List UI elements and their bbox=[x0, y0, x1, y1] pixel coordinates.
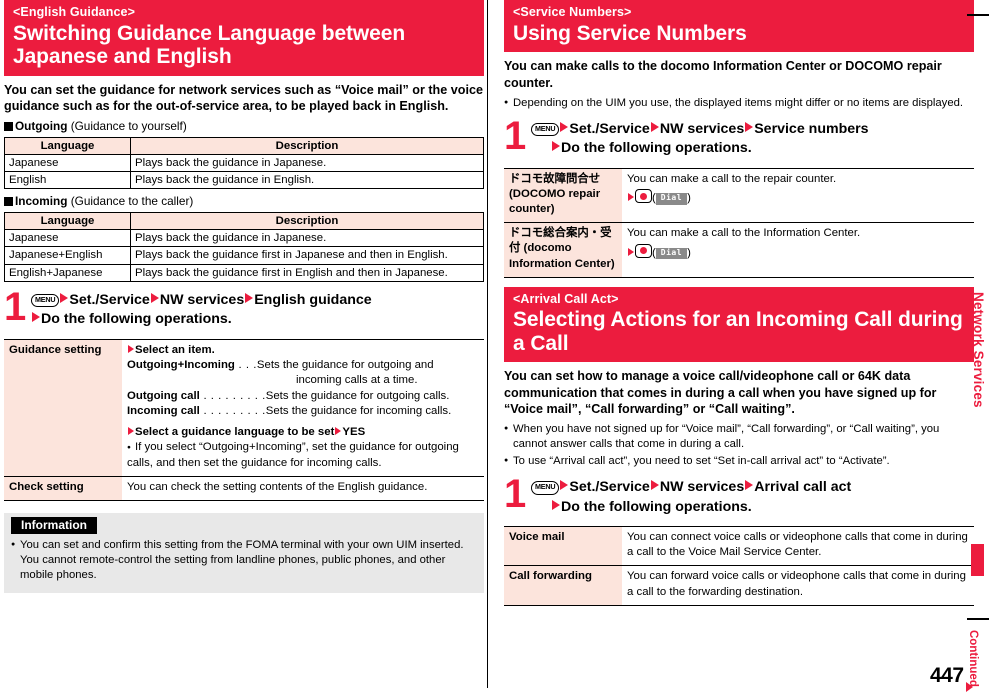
table-row: English Plays back the guidance in Engli… bbox=[5, 172, 484, 189]
right-column: <Service Numbers> Using Service Numbers … bbox=[504, 0, 974, 606]
cell-language: Japanese+English bbox=[5, 247, 131, 264]
arrow-icon bbox=[151, 293, 159, 303]
cell-description: Plays back the guidance in Japanese. bbox=[131, 154, 484, 171]
section-banner-service-numbers: <Service Numbers> Using Service Numbers bbox=[504, 0, 974, 52]
step-path-3: English guidance bbox=[254, 292, 371, 308]
column-divider bbox=[487, 0, 488, 688]
service-desc: You can make a call to the repair counte… bbox=[627, 172, 969, 187]
arrow-icon bbox=[128, 345, 134, 353]
table-row: ドコモ故障問合せ (DOCOMO repair counter) You can… bbox=[504, 168, 974, 222]
table-header-row: Language Description bbox=[5, 212, 484, 229]
subheading-outgoing-rest: (Guidance to yourself) bbox=[67, 119, 186, 133]
arrival-call-act-table: Voice mail You can connect voice calls o… bbox=[504, 526, 974, 606]
arrow-icon bbox=[745, 480, 753, 490]
subheading-incoming-rest: (Guidance to the caller) bbox=[67, 194, 193, 208]
option-term: Outgoing call bbox=[127, 390, 200, 402]
option-desc-cont: incoming calls at a time. bbox=[127, 373, 479, 388]
step-number: 1 bbox=[504, 474, 526, 514]
step-path-1: Set./Service bbox=[569, 121, 649, 137]
continued-label-wrap: Continued bbox=[967, 630, 979, 687]
arrow-icon bbox=[128, 427, 134, 435]
cell-service-key: ドコモ故障問合せ (DOCOMO repair counter) bbox=[504, 168, 622, 222]
cell-language: Japanese bbox=[5, 230, 131, 247]
table-header-row: Language Description bbox=[5, 137, 484, 154]
section-kicker: <English Guidance> bbox=[13, 5, 475, 21]
step-final-wrap: Do the following operations. bbox=[531, 499, 752, 515]
step-path-1: Set./Service bbox=[569, 479, 649, 495]
step-path-3: Service numbers bbox=[754, 121, 868, 137]
cell-guidance-setting-key: Guidance setting bbox=[4, 339, 122, 476]
section-title: Selecting Actions for an Incoming Call d… bbox=[513, 308, 965, 355]
section-bullet: When you have not signed up for “Voice m… bbox=[504, 422, 974, 452]
cell-description: Plays back the guidance in Japanese. bbox=[131, 230, 484, 247]
section-lead-text: You can set how to manage a voice call/v… bbox=[504, 368, 974, 417]
arrow-icon bbox=[745, 122, 753, 132]
arrow-icon bbox=[60, 293, 68, 303]
step-final: Do the following operations. bbox=[561, 140, 752, 156]
option-term: Incoming call bbox=[127, 405, 200, 417]
col-header-language: Language bbox=[5, 212, 131, 229]
option-desc: Sets the guidance for incoming calls. bbox=[266, 405, 452, 417]
step-body: MENUSet./ServiceNW servicesService numbe… bbox=[531, 120, 974, 159]
dial-action-line: (Dial) bbox=[627, 189, 969, 206]
step-body: MENUSet./ServiceNW servicesArrival call … bbox=[531, 478, 974, 517]
arrow-icon bbox=[245, 293, 253, 303]
arrow-icon bbox=[560, 122, 568, 132]
cell-language: English bbox=[5, 172, 131, 189]
outgoing-language-table: Language Description Japanese Plays back… bbox=[4, 137, 484, 190]
chapter-tab-marker bbox=[971, 544, 984, 576]
information-item: You can set and confirm this setting fro… bbox=[11, 538, 477, 583]
step-number: 1 bbox=[4, 287, 26, 327]
col-header-description: Description bbox=[131, 137, 484, 154]
arrow-icon bbox=[552, 141, 560, 151]
step-service-numbers: 1 MENUSet./ServiceNW servicesService num… bbox=[504, 120, 974, 162]
step-path-3: Arrival call act bbox=[754, 479, 851, 495]
col-header-language: Language bbox=[5, 137, 131, 154]
cell-description: Plays back the guidance first in Japanes… bbox=[131, 247, 484, 264]
col-header-description: Description bbox=[131, 212, 484, 229]
select-item-label: Select an item. bbox=[135, 344, 215, 356]
information-title: Information bbox=[11, 517, 97, 534]
subheading-incoming-bold: Incoming bbox=[15, 194, 67, 208]
black-square-icon bbox=[4, 122, 13, 131]
dial-key-icon bbox=[635, 244, 652, 258]
black-square-icon bbox=[4, 197, 13, 206]
dial-action-line: (Dial) bbox=[627, 244, 969, 261]
table-row: Voice mail You can connect voice calls o… bbox=[504, 527, 974, 566]
dial-key-icon bbox=[635, 189, 652, 203]
section-banner-english-guidance: <English Guidance> Switching Guidance La… bbox=[4, 0, 484, 76]
cell-action-value: You can connect voice calls or videophon… bbox=[622, 527, 974, 566]
arrow-icon bbox=[651, 122, 659, 132]
table-row: ドコモ総合案内・受付 (docomo Information Center) Y… bbox=[504, 223, 974, 277]
cell-guidance-setting-value: Select an item. Outgoing+Incoming . . .S… bbox=[122, 339, 484, 476]
step-number: 1 bbox=[504, 116, 526, 156]
continued-label: Continued bbox=[967, 630, 979, 687]
select-language-line: Select a guidance language to be setYES bbox=[127, 425, 479, 440]
section-title: Using Service Numbers bbox=[513, 22, 965, 46]
arrow-icon bbox=[552, 500, 560, 510]
menu-key-icon: MENU bbox=[531, 481, 559, 494]
guidance-setting-note: If you select “Outgoing+Incoming”, set t… bbox=[127, 441, 459, 468]
option-dots: . . . bbox=[235, 359, 257, 371]
table-row: Guidance setting Select an item. Outgoin… bbox=[4, 339, 484, 476]
option-row: Incoming call . . . . . . . . .Sets the … bbox=[127, 404, 479, 419]
cell-action-key: Voice mail bbox=[504, 527, 622, 566]
section-bullet: Depending on the UIM you use, the displa… bbox=[504, 96, 974, 111]
step-path-2: NW services bbox=[160, 292, 244, 308]
arrow-icon bbox=[628, 193, 634, 201]
arrow-icon bbox=[335, 427, 341, 435]
menu-key-icon: MENU bbox=[531, 123, 559, 136]
continued-arrow-icon bbox=[966, 682, 973, 692]
section-kicker: <Service Numbers> bbox=[513, 5, 965, 21]
arrow-icon bbox=[628, 248, 634, 256]
cell-description: Plays back the guidance first in English… bbox=[131, 264, 484, 281]
yes-label: YES bbox=[342, 426, 365, 438]
table-row: Japanese Plays back the guidance in Japa… bbox=[5, 230, 484, 247]
table-bottom-rule bbox=[4, 500, 484, 501]
incoming-language-table: Language Description Japanese Plays back… bbox=[4, 212, 484, 282]
step-final: Do the following operations. bbox=[41, 311, 232, 327]
subheading-outgoing: Outgoing (Guidance to yourself) bbox=[4, 119, 484, 134]
select-item-line: Select an item. bbox=[127, 343, 479, 358]
service-desc: You can make a call to the Information C… bbox=[627, 226, 969, 241]
cell-language: Japanese bbox=[5, 154, 131, 171]
section-lead-text: You can set the guidance for network ser… bbox=[4, 82, 484, 115]
cell-service-value: You can make a call to the Information C… bbox=[622, 223, 974, 277]
cell-check-setting-value: You can check the setting contents of th… bbox=[122, 476, 484, 500]
table-row: English+Japanese Plays back the guidance… bbox=[5, 264, 484, 281]
section-lead-text: You can make calls to the docomo Informa… bbox=[504, 58, 974, 91]
table-bottom-rule bbox=[504, 605, 974, 606]
option-dots: . . . . . . . . . bbox=[200, 405, 266, 417]
arrow-icon bbox=[560, 480, 568, 490]
table-row: Japanese Plays back the guidance in Japa… bbox=[5, 154, 484, 171]
cell-description: Plays back the guidance in English. bbox=[131, 172, 484, 189]
option-desc: Sets the guidance for outgoing calls. bbox=[266, 390, 450, 402]
option-term: Outgoing+Incoming bbox=[127, 359, 235, 371]
edge-bottom-rule bbox=[967, 618, 989, 620]
cell-action-value: You can forward voice calls or videophon… bbox=[622, 566, 974, 605]
section-bullet: To use “Arrival call act”, you need to s… bbox=[504, 454, 974, 469]
cell-language: English+Japanese bbox=[5, 264, 131, 281]
option-desc: Sets the guidance for outgoing and bbox=[257, 359, 434, 371]
arrow-icon bbox=[32, 312, 40, 322]
select-language-label: Select a guidance language to be set bbox=[135, 426, 334, 438]
cell-action-key: Call forwarding bbox=[504, 566, 622, 605]
subheading-outgoing-bold: Outgoing bbox=[15, 119, 67, 133]
menu-key-icon: MENU bbox=[31, 294, 59, 307]
option-row: Outgoing call . . . . . . . . .Sets the … bbox=[127, 389, 479, 404]
service-numbers-table: ドコモ故障問合せ (DOCOMO repair counter) You can… bbox=[504, 168, 974, 278]
option-row: Outgoing+Incoming . . .Sets the guidance… bbox=[127, 358, 479, 373]
option-dots: . . . . . . . . . bbox=[200, 390, 266, 402]
step-final-wrap: Do the following operations. bbox=[531, 140, 752, 156]
guidance-settings-table: Guidance setting Select an item. Outgoin… bbox=[4, 339, 484, 501]
step-english-guidance: 1 MENUSet./ServiceNW servicesEnglish gui… bbox=[4, 291, 484, 333]
section-kicker: <Arrival Call Act> bbox=[513, 292, 965, 308]
table-row: Call forwarding You can forward voice ca… bbox=[504, 566, 974, 605]
chapter-tab: Network Services bbox=[971, 292, 983, 532]
step-path-1: Set./Service bbox=[69, 292, 149, 308]
step-body: MENUSet./ServiceNW servicesEnglish guida… bbox=[31, 291, 484, 330]
table-row: Check setting You can check the setting … bbox=[4, 476, 484, 500]
section-title: Switching Guidance Language between Japa… bbox=[13, 22, 475, 69]
cell-service-value: You can make a call to the repair counte… bbox=[622, 168, 974, 222]
information-box: Information You can set and confirm this… bbox=[4, 513, 484, 593]
softkey-label: Dial bbox=[656, 193, 687, 205]
step-path-2: NW services bbox=[660, 479, 744, 495]
subheading-incoming: Incoming (Guidance to the caller) bbox=[4, 194, 484, 209]
left-column: <English Guidance> Switching Guidance La… bbox=[4, 0, 484, 593]
section-banner-arrival-call-act: <Arrival Call Act> Selecting Actions for… bbox=[504, 287, 974, 363]
table-bottom-rule bbox=[504, 277, 974, 278]
step-path-2: NW services bbox=[660, 121, 744, 137]
step-final: Do the following operations. bbox=[561, 499, 752, 515]
arrow-icon bbox=[651, 480, 659, 490]
manual-page: <English Guidance> Switching Guidance La… bbox=[0, 0, 1005, 697]
chapter-tab-label: Network Services bbox=[971, 292, 986, 408]
step-arrival-call-act: 1 MENUSet./ServiceNW servicesArrival cal… bbox=[504, 478, 974, 520]
softkey-label: Dial bbox=[656, 248, 687, 260]
edge-top-rule bbox=[967, 14, 989, 16]
page-number: 447 bbox=[930, 664, 964, 688]
table-row: Japanese+English Plays back the guidance… bbox=[5, 247, 484, 264]
cell-check-setting-key: Check setting bbox=[4, 476, 122, 500]
cell-service-key: ドコモ総合案内・受付 (docomo Information Center) bbox=[504, 223, 622, 277]
